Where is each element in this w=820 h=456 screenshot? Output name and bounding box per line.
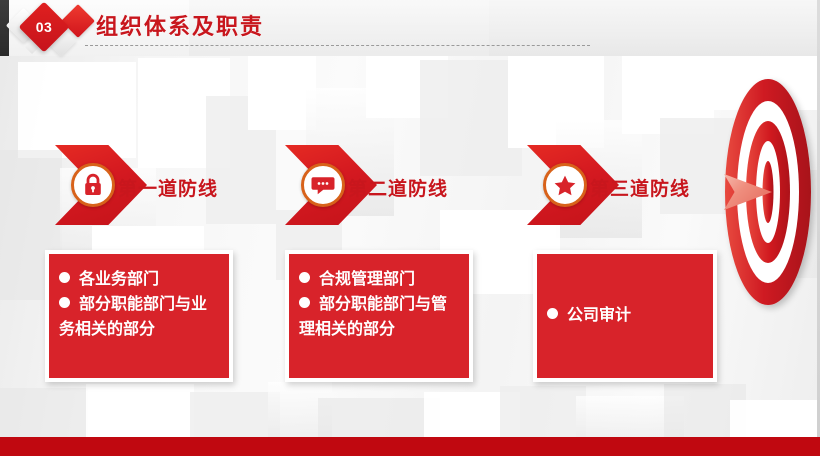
bullet-text: 部分职能部门与管理相关的部分 — [299, 296, 447, 338]
bullet-text: 合规管理部门 — [319, 271, 415, 288]
bullet-dot-icon — [547, 308, 558, 319]
line-1-bullet-1: 部分职能部门与业务相关的部分 — [59, 293, 219, 343]
bg-rect — [18, 62, 136, 158]
bullet-text: 各业务部门 — [79, 271, 159, 288]
bullet-dot-icon — [59, 297, 70, 308]
line-3-label: 第三道防线 — [590, 174, 690, 201]
star-icon — [543, 163, 587, 207]
slide-canvas: 03 组织体系及职责 第一道防线 各业务部门 部分职能部门与业务相关的部分 — [0, 0, 820, 456]
line-1-label: 第一道防线 — [118, 174, 218, 201]
line-2-box-content: 合规管理部门 部分职能部门与管理相关的部分 — [289, 254, 469, 352]
footer-accent-bar — [0, 437, 820, 456]
line-3-box: 公司审计 — [533, 250, 717, 382]
arrow-head-shape — [724, 172, 772, 212]
bullet-dot-icon — [299, 272, 310, 283]
bullet-dot-icon — [59, 272, 70, 283]
line-2-bullet-1: 部分职能部门与管理相关的部分 — [299, 293, 459, 343]
bg-rect — [420, 60, 522, 176]
line-2-bullet-0: 合规管理部门 — [299, 268, 459, 293]
section-number: 03 — [26, 9, 62, 45]
line-2-label: 第二道防线 — [348, 174, 448, 201]
page-title: 组织体系及职责 — [96, 9, 264, 41]
line-1-bullet-0: 各业务部门 — [59, 268, 219, 293]
line-1-box-content: 各业务部门 部分职能部门与业务相关的部分 — [49, 254, 229, 352]
header-divider — [85, 45, 590, 46]
bullet-text: 部分职能部门与业务相关的部分 — [59, 296, 207, 338]
arrow-hit-icon — [724, 172, 772, 212]
lock-icon — [71, 163, 115, 207]
line-1-box: 各业务部门 部分职能部门与业务相关的部分 — [45, 250, 233, 382]
bullet-text: 公司审计 — [567, 307, 631, 324]
line-3-bullet-0: 公司审计 — [547, 304, 631, 329]
line-2-box: 合规管理部门 部分职能部门与管理相关的部分 — [285, 250, 473, 382]
bullet-dot-icon — [299, 297, 310, 308]
line-3-box-content: 公司审计 — [537, 254, 713, 378]
speech-bubble-icon — [301, 163, 345, 207]
